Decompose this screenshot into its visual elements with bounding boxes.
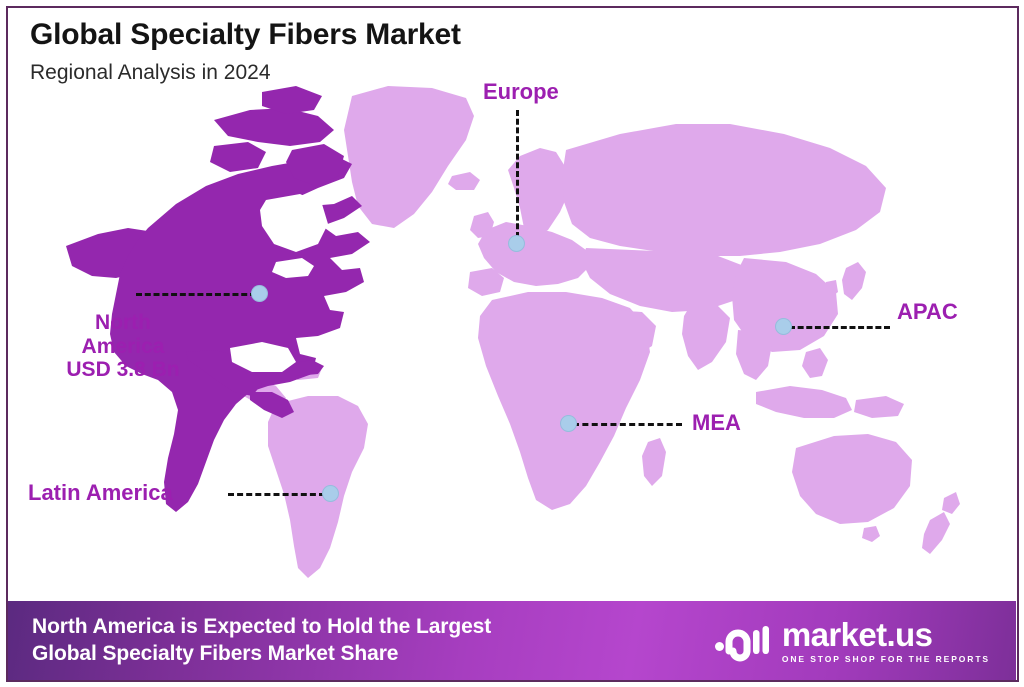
region-label-mea: MEA	[692, 411, 741, 436]
map-marker-latin-america[interactable]	[322, 485, 339, 502]
brand-name: market.us	[782, 618, 933, 651]
region-label-europe: Europe	[483, 80, 559, 105]
leader-line-latin-america	[228, 493, 325, 496]
region-new-zealand-north	[942, 492, 960, 514]
region-british-isles	[470, 212, 494, 238]
region-south-america	[268, 396, 368, 578]
region-arctic-islands	[214, 108, 334, 146]
leader-line-apac	[789, 326, 890, 329]
infographic-canvas: Global Specialty Fibers Market Regional …	[0, 0, 1024, 687]
footer-callout: North America is Expected to Hold the La…	[32, 614, 491, 668]
region-north-asia	[562, 124, 886, 256]
map-base-regions	[236, 86, 960, 578]
footer-banner: North America is Expected to Hold the La…	[8, 601, 1016, 680]
region-japan	[842, 262, 866, 300]
leader-line-europe	[516, 110, 519, 238]
page-title: Global Specialty Fibers Market	[30, 18, 1024, 51]
region-victoria-island	[210, 142, 266, 172]
region-greenland	[344, 86, 474, 228]
brand-wordmark: market.us ONE STOP SHOP FOR THE REPORTS	[782, 618, 990, 664]
region-philippines	[802, 348, 828, 378]
brand-logo[interactable]: market.us ONE STOP SHOP FOR THE REPORTS	[714, 618, 990, 664]
region-iceland	[448, 172, 480, 190]
region-india	[682, 306, 730, 370]
region-indonesia	[756, 386, 852, 418]
market-us-logo-icon	[714, 618, 772, 664]
region-png	[854, 396, 904, 418]
map-marker-mea[interactable]	[560, 415, 577, 432]
header: Global Specialty Fibers Market Regional …	[0, 0, 1024, 84]
region-label-north-america: North America USD 3.8 Bn	[28, 311, 218, 382]
region-label-apac: APAC	[897, 300, 958, 325]
region-madagascar	[642, 438, 666, 486]
map-marker-apac[interactable]	[775, 318, 792, 335]
brand-tagline: ONE STOP SHOP FOR THE REPORTS	[782, 655, 990, 664]
leader-line-mea	[573, 423, 682, 426]
map-marker-north-america[interactable]	[251, 285, 268, 302]
region-tasmania	[862, 526, 880, 542]
region-label-latin-america: Latin America	[28, 481, 173, 506]
leader-line-north-america	[136, 293, 256, 296]
region-new-zealand	[922, 512, 950, 554]
map-marker-europe[interactable]	[508, 235, 525, 252]
region-australia	[792, 434, 912, 524]
